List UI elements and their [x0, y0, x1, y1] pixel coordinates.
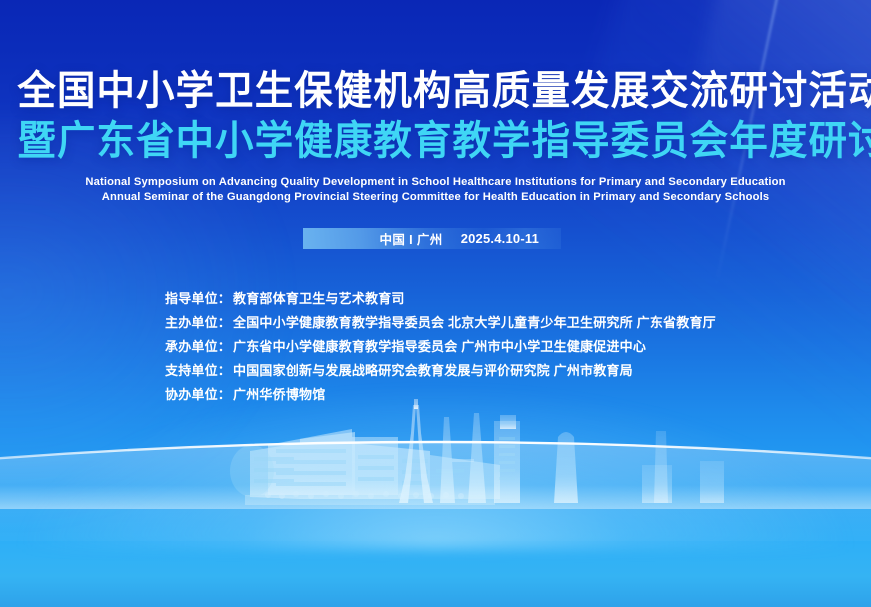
location-date-badge: 中国 I 广州 2025.4.10-11	[303, 228, 561, 249]
organizer-value: 中国国家创新与发展战略研究会教育发展与评价研究院 广州市教育局	[233, 359, 633, 383]
poster-title-block: 全国中小学卫生保健机构高质量发展交流研讨活动 暨广东省中小学健康教育教学指导委员…	[0, 68, 871, 205]
organizer-row: 承办单位： 广东省中小学健康教育教学指导委员会 广州市中小学卫生健康促进中心	[165, 335, 716, 359]
city-towers	[440, 413, 578, 503]
organizer-row: 协办单位： 广州华侨博物馆	[165, 383, 716, 407]
badge-content: 中国 I 广州 2025.4.10-11	[303, 228, 561, 249]
organizer-label: 指导单位：	[165, 287, 231, 311]
organizer-row: 指导单位： 教育部体育卫生与艺术教育司	[165, 287, 716, 311]
organizer-label: 协办单位：	[165, 383, 231, 407]
organizer-label: 主办单位：	[165, 311, 231, 335]
school-building-group	[230, 429, 500, 505]
organizer-list: 指导单位： 教育部体育卫生与艺术教育司 主办单位： 全国中小学健康教育教学指导委…	[165, 287, 716, 407]
organizer-value: 全国中小学健康教育教学指导委员会 北京大学儿童青少年卫生研究所 广东省教育厅	[233, 311, 716, 335]
organizer-value: 广州华侨博物馆	[233, 383, 325, 407]
canton-tower	[399, 399, 433, 503]
organizer-value: 广东省中小学健康教育教学指导委员会 广州市中小学卫生健康促进中心	[233, 335, 646, 359]
organizer-value: 教育部体育卫生与艺术教育司	[233, 287, 405, 311]
english-subtitle-line-2: Annual Seminar of the Guangdong Provinci…	[0, 190, 871, 205]
organizer-label: 承办单位：	[165, 335, 231, 359]
english-subtitle-line-1: National Symposium on Advancing Quality …	[0, 175, 871, 190]
organizer-label: 支持单位：	[165, 359, 231, 383]
organizer-row: 主办单位： 全国中小学健康教育教学指导委员会 北京大学儿童青少年卫生研究所 广东…	[165, 311, 716, 335]
english-subtitle-block: National Symposium on Advancing Quality …	[0, 175, 871, 205]
horizon-arc	[0, 421, 871, 541]
city-skyline-illustration	[0, 399, 871, 529]
organizer-row: 支持单位： 中国国家创新与发展战略研究会教育发展与评价研究院 广州市教育局	[165, 359, 716, 383]
distant-towers	[642, 431, 724, 503]
badge-date: 2025.4.10-11	[461, 231, 539, 246]
badge-location: 中国 I 广州	[379, 229, 442, 248]
conference-poster: 全国中小学卫生保健机构高质量发展交流研讨活动 暨广东省中小学健康教育教学指导委员…	[0, 0, 871, 607]
title-line-secondary: 暨广东省中小学健康教育教学指导委员会年度研讨活动	[17, 118, 853, 164]
title-line-primary: 全国中小学卫生保健机构高质量发展交流研讨活动	[17, 68, 853, 114]
